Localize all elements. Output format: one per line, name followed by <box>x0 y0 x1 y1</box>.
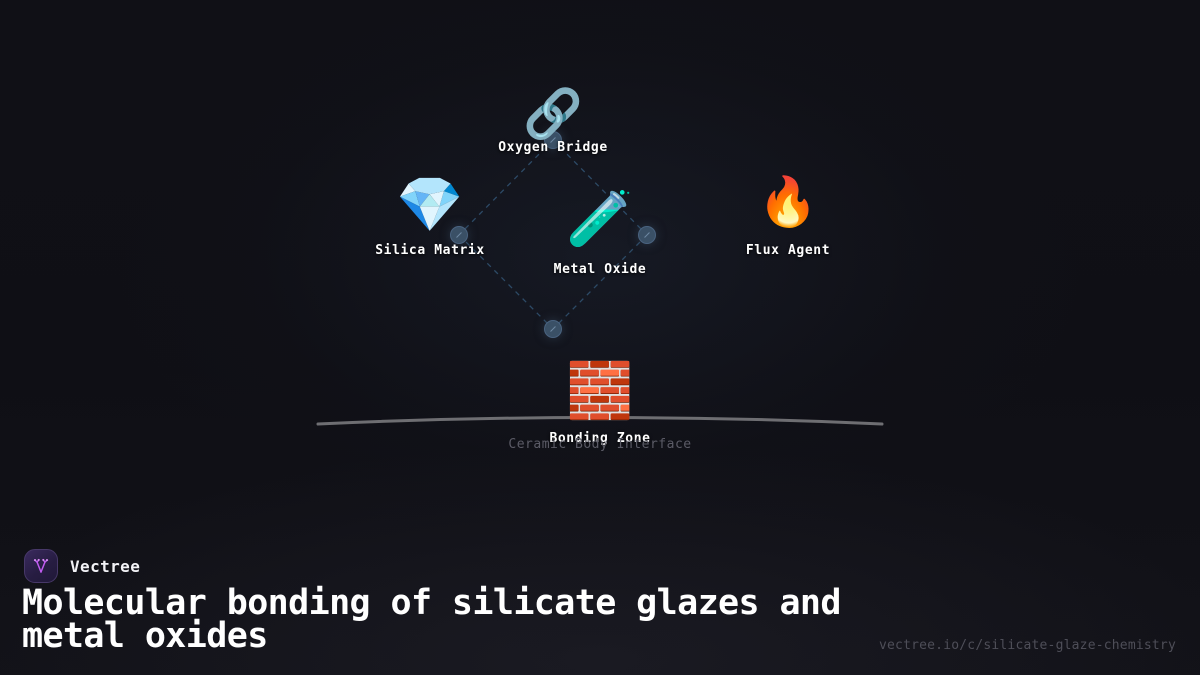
page-title: Molecular bonding of silicate glazes and… <box>22 587 842 653</box>
bonding-zone-icon-wrap: 🧱 <box>566 362 633 420</box>
brand-name: Vectree <box>70 557 140 576</box>
ceramic-interface-sublabel-wrap: Ceramic Body Interface <box>508 441 691 452</box>
ceramic-interface-sublabel: Ceramic Body Interface <box>508 437 691 452</box>
source-url: vectree.io/c/silicate-glaze-chemistry <box>879 638 1176 653</box>
footer: Vectree Molecular bonding of silicate gl… <box>0 525 1200 675</box>
brick-icon: 🧱 <box>566 362 633 420</box>
vectree-tree-glyph <box>31 556 51 576</box>
brand-block[interactable]: Vectree <box>24 549 140 583</box>
vectree-logo-icon <box>24 549 58 583</box>
